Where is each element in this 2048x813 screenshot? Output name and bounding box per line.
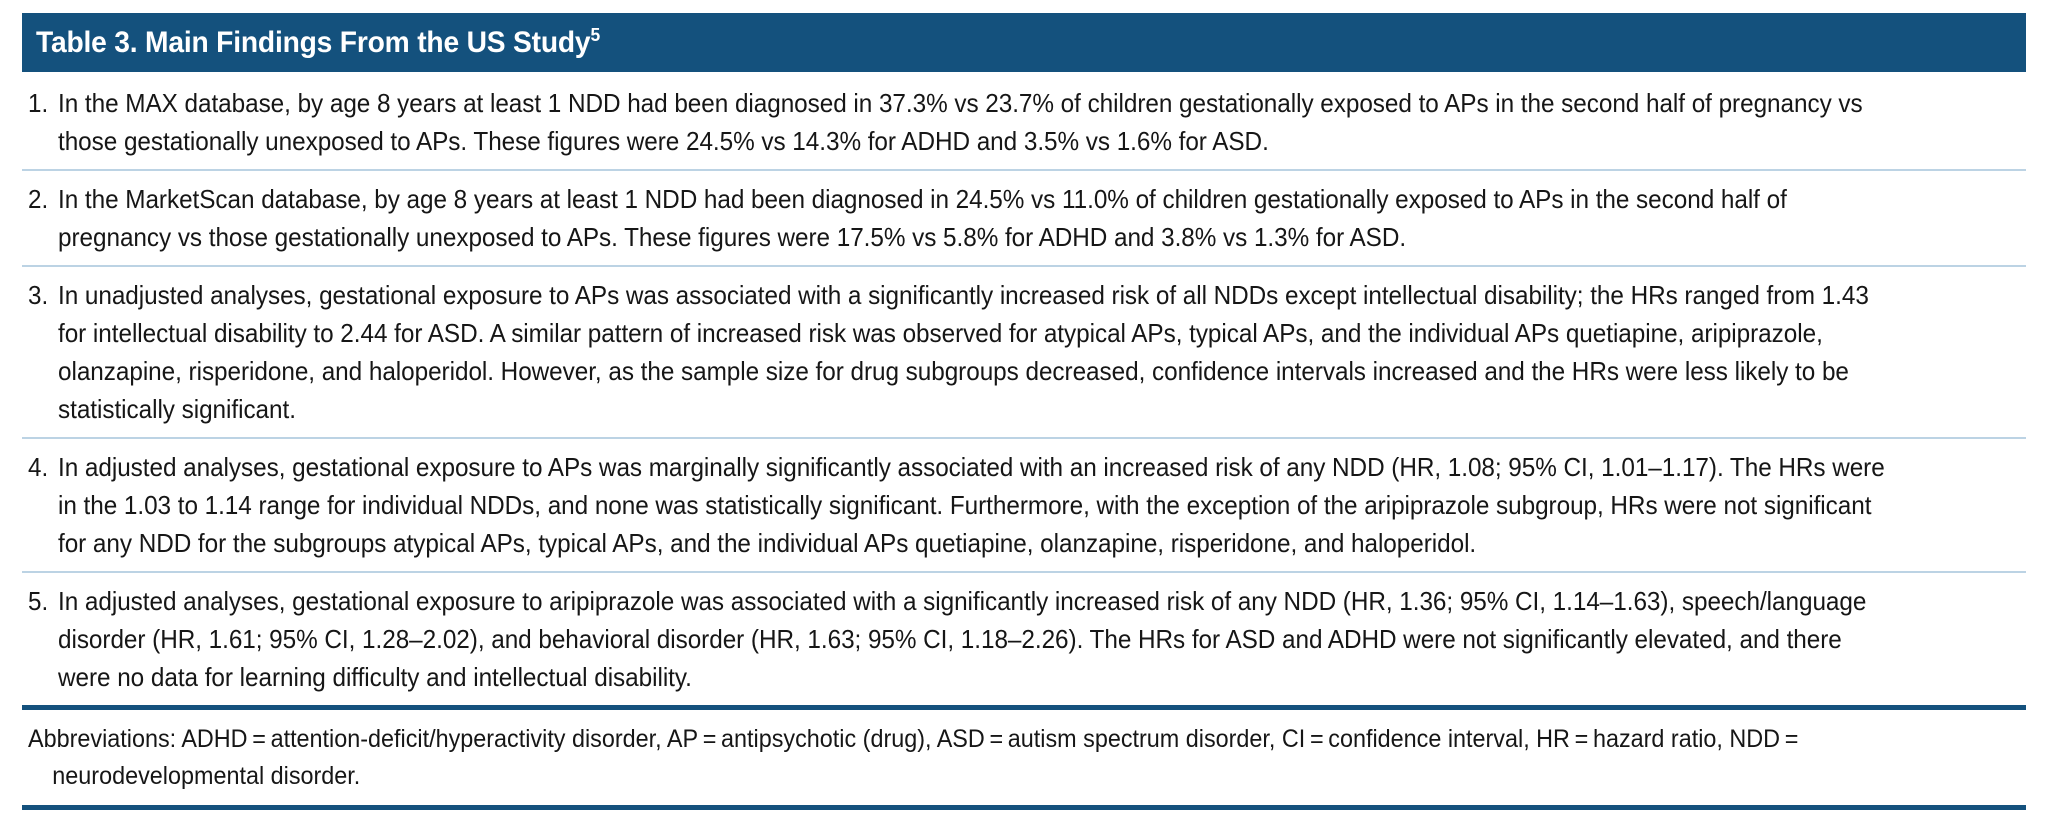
table-title: Table 3. Main Findings From the US Study… [36,28,600,58]
table-bottom-rule [22,805,2026,810]
finding-number: 2. [28,180,56,218]
abbreviations-row: Abbreviations: ADHD = attention-deficit/… [22,710,2026,805]
finding-row: 2. In the MarketScan database, by age 8 … [22,171,2026,267]
finding-number: 3. [28,276,56,314]
table-body: 1. In the MAX database, by age 8 years a… [22,72,2026,705]
finding-row: 3. In unadjusted analyses, gestational e… [22,267,2026,439]
table-title-text: Table 3. Main Findings From the US Study [36,26,590,59]
finding-text: In the MAX database, by age 8 years at l… [58,84,1891,160]
finding-row: 4. In adjusted analyses, gestational exp… [22,439,2026,573]
finding-number: 4. [28,448,56,486]
finding-text: In adjusted analyses, gestational exposu… [58,448,1891,562]
finding-number: 1. [28,84,56,122]
finding-text: In the MarketScan database, by age 8 yea… [58,180,1891,256]
abbreviations-content: Abbreviations: ADHD = attention-deficit/… [28,725,1803,790]
finding-text: In unadjusted analyses, gestational expo… [58,276,1891,428]
table-figure-page: Table 3. Main Findings From the US Study… [0,0,2048,813]
abbreviations-text: Abbreviations: ADHD = attention-deficit/… [28,721,1889,795]
finding-row: 5. In adjusted analyses, gestational exp… [22,573,2026,705]
finding-row: 1. In the MAX database, by age 8 years a… [22,72,2026,171]
table-header-bar: Table 3. Main Findings From the US Study… [22,13,2026,72]
table-3: Table 3. Main Findings From the US Study… [22,13,2026,810]
table-title-superscript: 5 [590,24,600,45]
finding-number: 5. [28,582,56,620]
finding-text: In adjusted analyses, gestational exposu… [58,582,1891,696]
